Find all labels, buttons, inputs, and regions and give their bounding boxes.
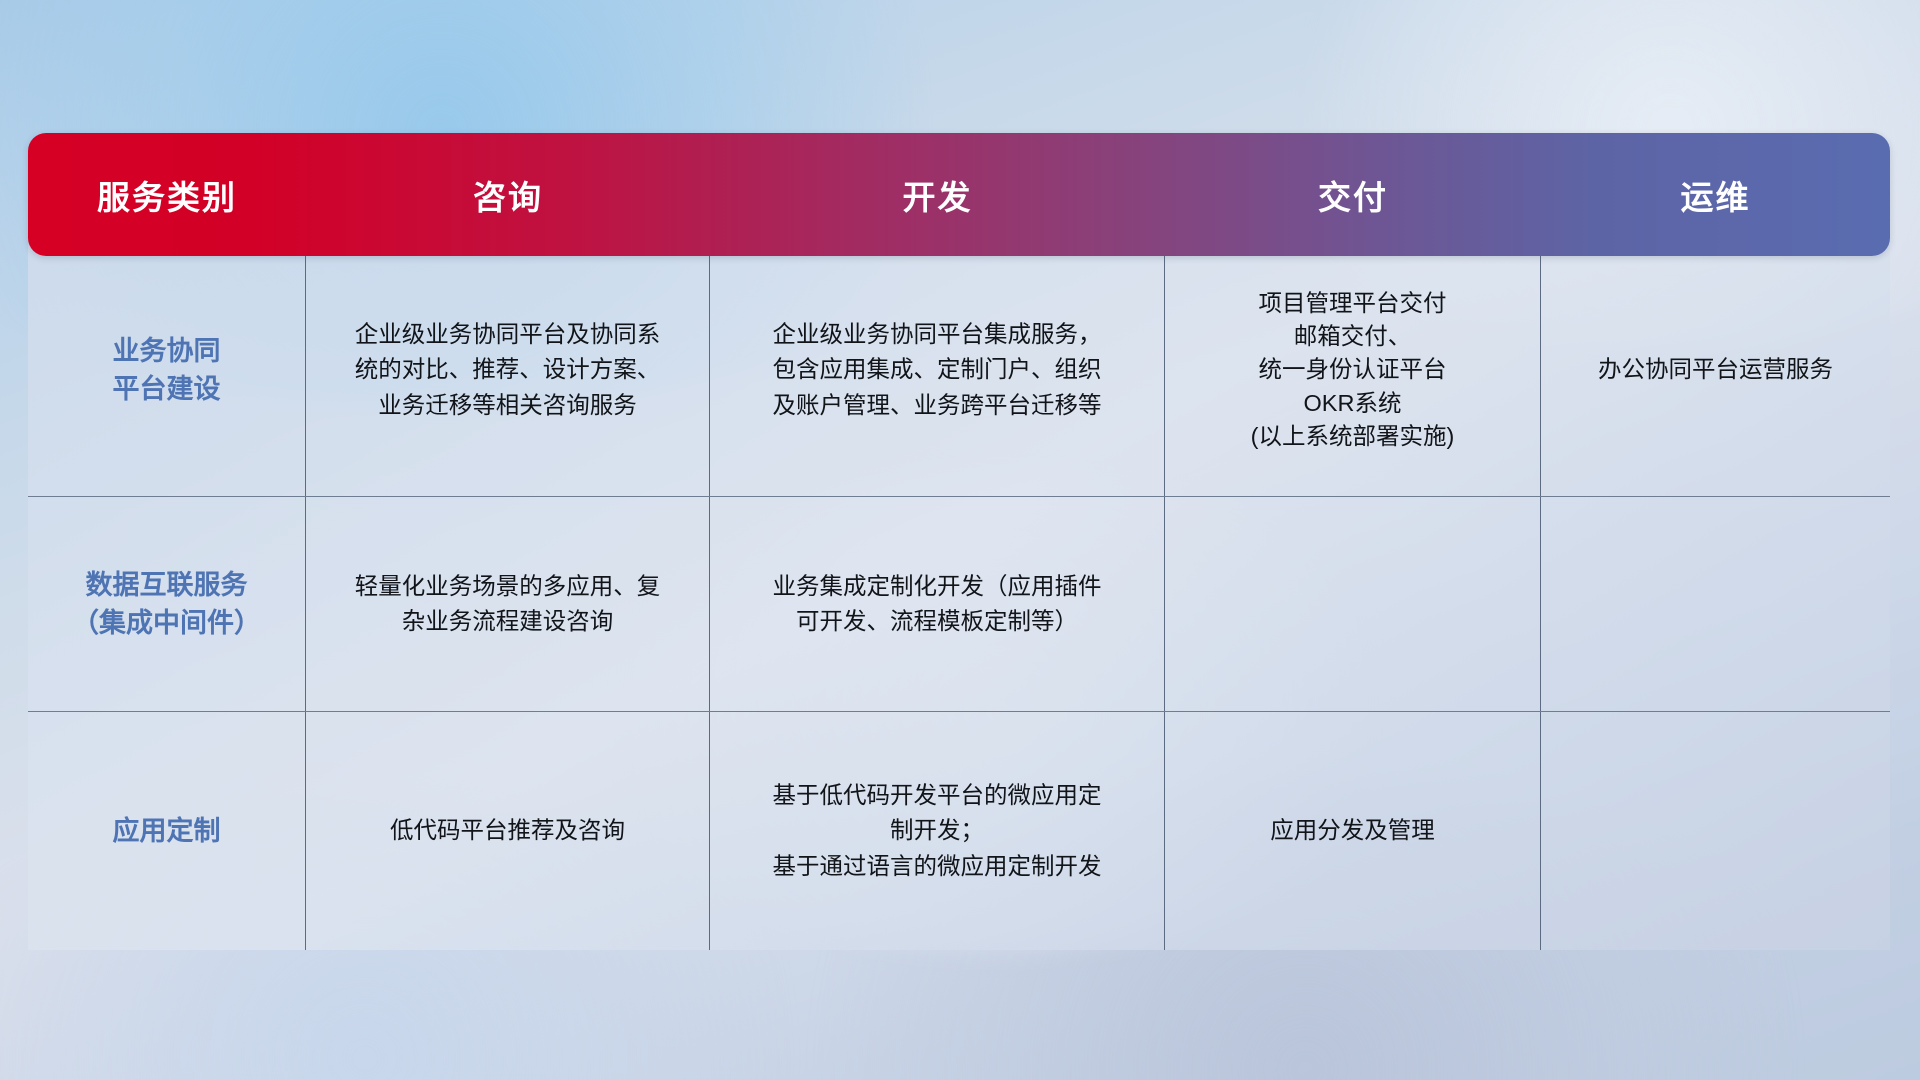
table-cell-consulting: 低代码平台推荐及咨询: [306, 712, 710, 950]
table-header-cell-operations: 运维: [1541, 171, 1890, 219]
table-body: 业务协同 平台建设 企业级业务协同平台及协同系 统的对比、推荐、设计方案、 业务…: [28, 244, 1890, 950]
cell-text-development: 企业级业务协同平台集成服务， 包含应用集成、定制门户、组织 及账户管理、业务跨平…: [773, 317, 1102, 423]
cell-text-delivery: 应用分发及管理: [1270, 813, 1435, 848]
table-cell-category: 应用定制: [28, 712, 306, 950]
table-cell-operations: [1541, 712, 1890, 950]
table-cell-delivery: 应用分发及管理: [1165, 712, 1541, 950]
table-row: 数据互联服务 （集成中间件） 轻量化业务场景的多应用、复 杂业务流程建设咨询 业…: [28, 497, 1890, 712]
table-cell-category: 业务协同 平台建设: [28, 244, 306, 496]
table-cell-delivery: [1165, 497, 1541, 711]
table-cell-consulting: 企业级业务协同平台及协同系 统的对比、推荐、设计方案、 业务迁移等相关咨询服务: [306, 244, 710, 496]
table-row: 业务协同 平台建设 企业级业务协同平台及协同系 统的对比、推荐、设计方案、 业务…: [28, 244, 1890, 497]
cell-text-consulting: 企业级业务协同平台及协同系 统的对比、推荐、设计方案、 业务迁移等相关咨询服务: [355, 317, 661, 423]
table-header-row: 服务类别 咨询 开发 交付 运维: [28, 133, 1890, 256]
cell-text-consulting: 轻量化业务场景的多应用、复 杂业务流程建设咨询: [355, 569, 661, 640]
cell-text-operations: 办公协同平台运营服务: [1598, 352, 1833, 387]
table-cell-category: 数据互联服务 （集成中间件）: [28, 497, 306, 711]
table-cell-delivery: 项目管理平台交付 邮箱交付、 统一身份认证平台 OKR系统 (以上系统部署实施): [1165, 244, 1541, 496]
table-cell-consulting: 轻量化业务场景的多应用、复 杂业务流程建设咨询: [306, 497, 710, 711]
category-label: 应用定制: [113, 812, 221, 850]
table-header-cell-consulting: 咨询: [306, 171, 710, 219]
table-cell-development: 基于低代码开发平台的微应用定 制开发； 基于通过语言的微应用定制开发: [710, 712, 1165, 950]
cell-text-development: 基于低代码开发平台的微应用定 制开发； 基于通过语言的微应用定制开发: [773, 778, 1102, 884]
table-cell-development: 企业级业务协同平台集成服务， 包含应用集成、定制门户、组织 及账户管理、业务跨平…: [710, 244, 1165, 496]
table-cell-operations: [1541, 497, 1890, 711]
cell-text-development: 业务集成定制化开发（应用插件 可开发、流程模板定制等）: [773, 569, 1102, 640]
table-row: 应用定制 低代码平台推荐及咨询 基于低代码开发平台的微应用定 制开发； 基于通过…: [28, 712, 1890, 950]
table-cell-operations: 办公协同平台运营服务: [1541, 244, 1890, 496]
table-header-cell-development: 开发: [710, 171, 1165, 219]
table-header-cell-delivery: 交付: [1165, 171, 1541, 219]
cell-text-delivery: 项目管理平台交付 邮箱交付、 统一身份认证平台 OKR系统 (以上系统部署实施): [1251, 287, 1455, 454]
service-category-table: 服务类别 咨询 开发 交付 运维 业务协同 平台建设 企业级业务协同平台及协同系…: [28, 133, 1890, 950]
category-label: 业务协同 平台建设: [113, 332, 221, 409]
table-header-cell-service-category: 服务类别: [28, 171, 306, 219]
table-cell-development: 业务集成定制化开发（应用插件 可开发、流程模板定制等）: [710, 497, 1165, 711]
category-label: 数据互联服务 （集成中间件）: [72, 566, 261, 643]
cell-text-consulting: 低代码平台推荐及咨询: [390, 813, 625, 848]
